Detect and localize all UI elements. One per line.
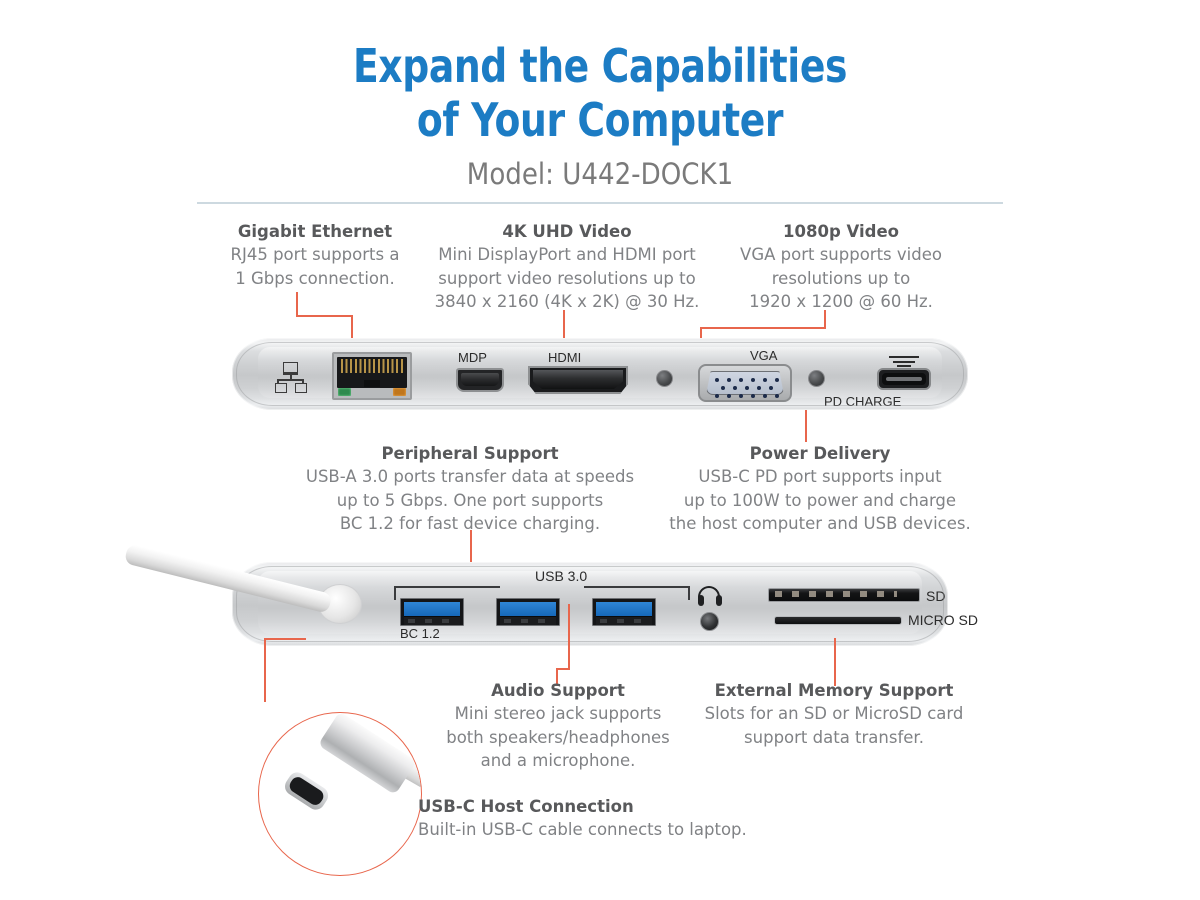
- callout-line: resolutions up to: [716, 267, 966, 291]
- callout-heading: USB-C Host Connection: [418, 795, 838, 818]
- page-title-line1: Expand the Capabilities: [108, 40, 1092, 92]
- usb-a-tongue: [596, 616, 652, 625]
- callout-line: support data transfer.: [690, 726, 978, 750]
- magnified-usb-c-tip: [282, 769, 332, 813]
- page-title-line2: of Your Computer: [108, 94, 1092, 146]
- callout-external-memory-support: External Memory Support Slots for an SD …: [690, 679, 978, 749]
- header-divider: [197, 202, 1003, 204]
- callout-heading: 4K UHD Video: [424, 220, 710, 243]
- audio-jack-port: [700, 612, 719, 631]
- callout-line: Mini DisplayPort and HDMI port: [424, 243, 710, 267]
- callout-line: 3840 x 2160 (4K x 2K) @ 30 Hz.: [424, 290, 710, 314]
- label-bc-12: BC 1.2: [400, 626, 440, 641]
- callout-line: 1 Gbps connection.: [196, 267, 434, 291]
- sd-card-slot: [768, 588, 920, 602]
- usb-c-tongue: [886, 377, 922, 381]
- label-vga: VGA: [750, 348, 777, 363]
- rj45-latch-slot: [364, 380, 380, 387]
- sd-card-contacts: [775, 591, 897, 597]
- rj45-led-amber: [393, 388, 406, 396]
- dock-bottom-view: USB 3.0 BC 1.2 SD MICRO SD: [232, 562, 948, 646]
- mdp-cavity: [461, 373, 499, 386]
- headphone-cup-left: [698, 595, 704, 606]
- model-number: Model: U442-DOCK1: [60, 157, 1140, 191]
- leader-line-power-delivery: [805, 410, 807, 442]
- callout-line: RJ45 port supports a: [196, 243, 434, 267]
- callout-line: both speakers/headphones: [430, 726, 686, 750]
- ethernet-network-icon: [274, 362, 308, 390]
- leader-line-usbc-host-horizontal: [264, 638, 306, 640]
- callout-heading: Gigabit Ethernet: [196, 220, 434, 243]
- magnified-usb-c-tip-cavity: [287, 775, 326, 808]
- label-hdmi: HDMI: [548, 350, 581, 365]
- callout-line: and a microphone.: [430, 749, 686, 773]
- callout-line: the host computer and USB devices.: [660, 512, 980, 536]
- label-micro-sd: MICRO SD: [908, 612, 978, 628]
- callout-heading: External Memory Support: [690, 679, 978, 702]
- leader-line-1080p-vertical: [824, 310, 826, 328]
- magnified-connector-housing: [318, 712, 417, 795]
- rj45-contacts: [341, 359, 403, 373]
- usb-a-port-1: [400, 598, 464, 626]
- callout-heading: Power Delivery: [660, 442, 980, 465]
- headphone-cup-right: [716, 595, 722, 606]
- vga-screw-post-right: [808, 370, 825, 387]
- label-usb-30: USB 3.0: [535, 568, 587, 584]
- callout-peripheral-support: Peripheral Support USB-A 3.0 ports trans…: [284, 442, 656, 536]
- usb-a-tongue: [500, 616, 556, 625]
- leader-line-usbc-host-vertical: [264, 638, 266, 702]
- usb-a-port-2: [496, 598, 560, 626]
- usb-c-cavity: [882, 373, 926, 385]
- callout-1080p-video: 1080p Video VGA port supports video reso…: [716, 220, 966, 314]
- callout-power-delivery: Power Delivery USB-C PD port supports in…: [660, 442, 980, 536]
- label-pd-charge: PD CHARGE: [824, 394, 901, 409]
- usb-a-tongue: [404, 616, 460, 625]
- callout-line: USB-C PD port supports input: [660, 465, 980, 489]
- usb-a-blue-insert: [404, 602, 460, 616]
- label-mdp: MDP: [458, 350, 487, 365]
- hdmi-port: [528, 366, 628, 394]
- callout-line: up to 100W to power and charge: [660, 489, 980, 513]
- usb-c-connector-magnifier: [258, 712, 422, 876]
- callout-line: Mini stereo jack supports: [430, 702, 686, 726]
- dock-top-view: MDP HDMI VGA: [232, 338, 968, 410]
- mini-displayport-port: [456, 368, 504, 392]
- leader-line-audio-vertical: [568, 604, 570, 670]
- callout-line: Built-in USB-C cable connects to laptop.: [418, 818, 838, 842]
- leader-line-ethernet-horizontal: [296, 315, 352, 317]
- callout-4k-uhd-video: 4K UHD Video Mini DisplayPort and HDMI p…: [424, 220, 710, 314]
- callout-audio-support: Audio Support Mini stereo jack supports …: [430, 679, 686, 773]
- callout-line: USB-A 3.0 ports transfer data at speeds: [284, 465, 656, 489]
- hdmi-cavity: [533, 370, 623, 389]
- label-sd: SD: [926, 588, 945, 604]
- rj45-ethernet-port: [332, 352, 412, 400]
- callout-heading: 1080p Video: [716, 220, 966, 243]
- vga-port: [698, 364, 792, 402]
- header: Expand the Capabilities of Your Computer…: [0, 0, 1200, 191]
- vga-screw-post-left: [656, 370, 673, 387]
- micro-sd-card-slot: [774, 616, 902, 625]
- rj45-led-green: [338, 388, 351, 396]
- usb-a-port-3: [592, 598, 656, 626]
- headphone-icon: [698, 586, 722, 608]
- vga-cavity: [706, 371, 784, 395]
- leader-line-audio-horizontal: [556, 668, 570, 670]
- leader-line-1080p-horizontal: [700, 327, 826, 329]
- rj45-cavity: [337, 357, 407, 388]
- usb-a-blue-insert: [500, 602, 556, 616]
- callout-line: up to 5 Gbps. One port supports: [284, 489, 656, 513]
- leader-line-ethernet-vertical: [296, 292, 298, 316]
- infographic-page: Expand the Capabilities of Your Computer…: [0, 0, 1200, 900]
- callout-gigabit-ethernet: Gigabit Ethernet RJ45 port supports a 1 …: [196, 220, 434, 290]
- callout-line: support video resolutions up to: [424, 267, 710, 291]
- usb-c-pd-port: [877, 368, 931, 390]
- callout-heading: Peripheral Support: [284, 442, 656, 465]
- callout-heading: Audio Support: [430, 679, 686, 702]
- callout-line: VGA port supports video: [716, 243, 966, 267]
- callout-line: 1920 x 1200 @ 60 Hz.: [716, 290, 966, 314]
- callout-usbc-host-connection: USB-C Host Connection Built-in USB-C cab…: [418, 795, 838, 842]
- usb-a-blue-insert: [596, 602, 652, 616]
- callout-line: Slots for an SD or MicroSD card: [690, 702, 978, 726]
